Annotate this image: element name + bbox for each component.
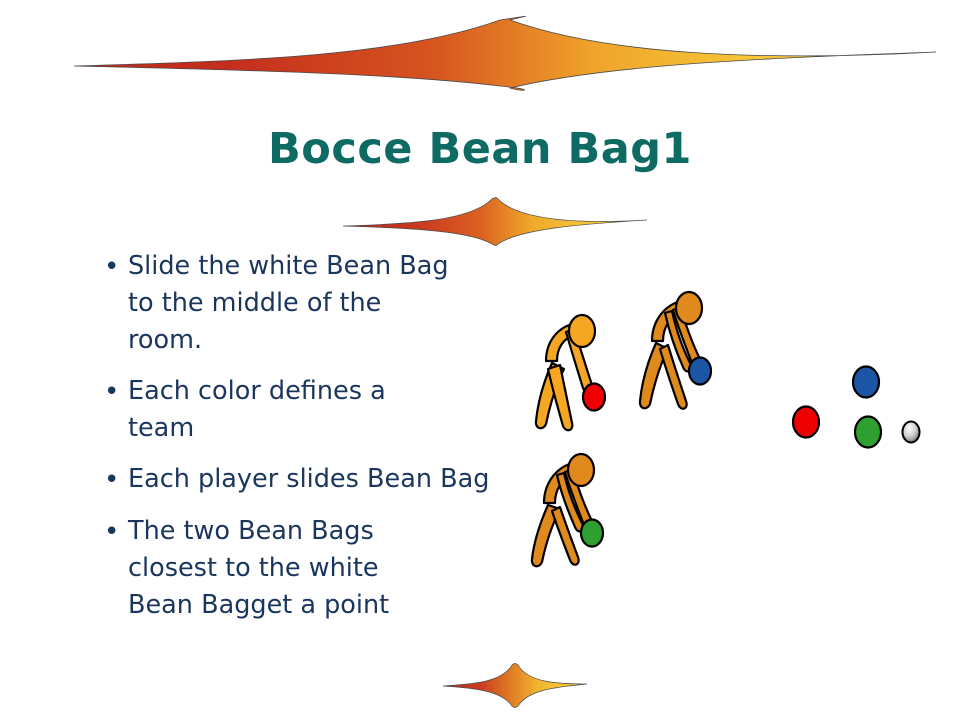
list-item: • Each player slides Bean Bag — [96, 461, 516, 499]
player-gold-red — [522, 303, 632, 443]
page-title: Bocce Bean Bag1 — [0, 124, 960, 174]
bullet-point-icon: • — [96, 373, 128, 411]
bullet-text: Each player slides Bean Bag — [128, 461, 496, 498]
list-item: • The two Bean Bags closest to the white… — [96, 513, 516, 624]
held-ball-green — [581, 520, 603, 547]
bottom-ornament — [440, 662, 590, 710]
title-ornament — [340, 196, 650, 248]
ball-blue — [853, 367, 879, 398]
list-item: • Slide the white Bean Bag to the middle… — [96, 248, 516, 359]
list-item: • Each color defines a team — [96, 373, 516, 447]
ball-white — [903, 422, 920, 443]
player-orange-green — [522, 445, 632, 585]
bullet-list: • Slide the white Bean Bag to the middle… — [96, 248, 516, 638]
held-ball-blue — [689, 358, 711, 385]
presentation-slide: Bocce Bean Bag1 • Slide the white Bean B… — [0, 0, 960, 720]
bocce-illustration — [500, 265, 960, 605]
loose-balls-group — [780, 360, 940, 470]
ball-green — [855, 417, 881, 448]
bullet-text: Slide the white Bean Bag to the middle o… — [128, 248, 458, 359]
bullet-point-icon: • — [96, 513, 128, 551]
top-ornament — [70, 14, 940, 94]
ball-red — [793, 407, 819, 438]
player-orange-blue — [628, 281, 738, 421]
bullet-text: The two Bean Bags closest to the white B… — [128, 513, 446, 624]
bullet-text: Each color defines a team — [128, 373, 446, 447]
held-ball-red — [583, 384, 605, 411]
bullet-point-icon: • — [96, 461, 128, 499]
bullet-point-icon: • — [96, 248, 128, 286]
